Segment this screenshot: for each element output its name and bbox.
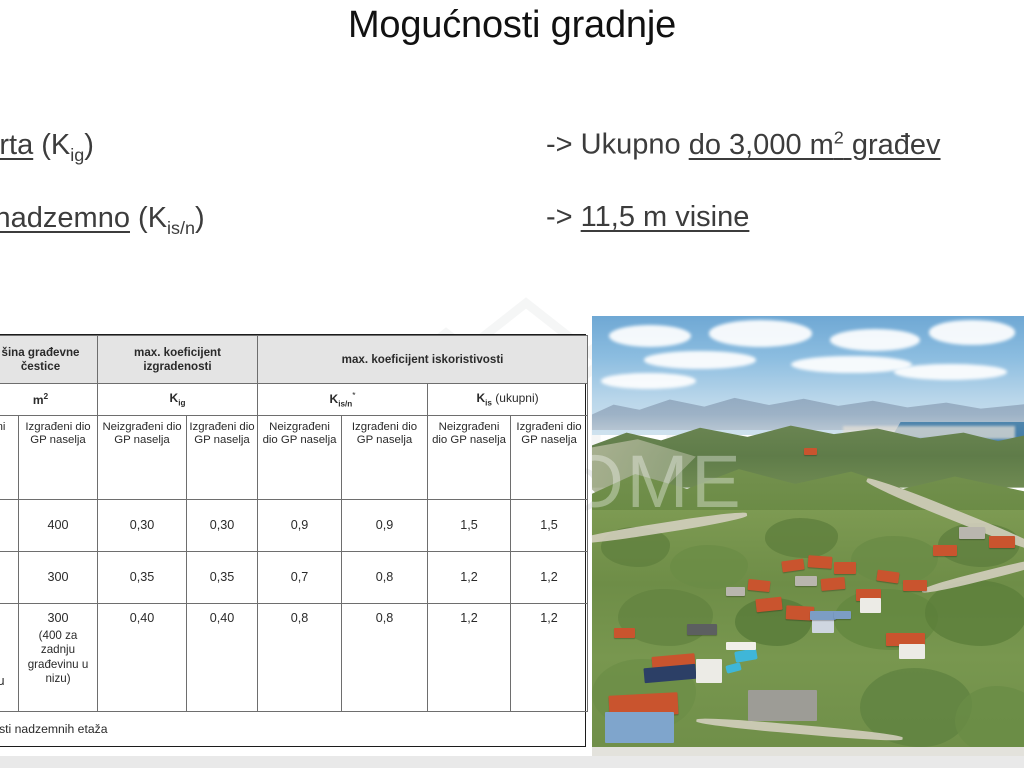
bullet-right-1-underlined: do 3,000 m2 građev (689, 129, 941, 161)
group-header-kig: max. koeficijent izgradenosti (98, 336, 258, 384)
house-roof (747, 579, 770, 592)
table-group-header-row: šina građevne čestice max. koeficijent i… (0, 336, 588, 384)
row1-col4: 0,7 (258, 552, 342, 604)
row0-col2: 0,30 (98, 500, 187, 552)
row0-col6: 1,5 (428, 500, 511, 552)
subheader-3: Izgrađeni dio GP naselja (187, 416, 258, 500)
subheader-6: Neizgrađeni dio GP naselja (428, 416, 511, 500)
cloud-icon (601, 373, 696, 388)
row1-col5: 0,8 (342, 552, 428, 604)
row0-col5: 0,9 (342, 500, 428, 552)
row0-col7: 1,5 (511, 500, 588, 552)
house-roof (804, 448, 817, 455)
subheader-5: Izgrađeni dio GP naselja (342, 416, 428, 500)
row1-col3: 0,35 (187, 552, 258, 604)
cloud-icon (644, 351, 756, 369)
table-row: 400 0,30 0,30 0,9 0,9 1,5 1,5 (0, 500, 588, 552)
row1-col2: 0,35 (98, 552, 187, 604)
bullet-left-2: 00 m2 nadzemno (Kis/n) (0, 201, 432, 236)
villa-wall (696, 659, 722, 683)
cloud-icon (609, 325, 691, 347)
house-roof (933, 545, 957, 556)
row1-col6: 1,2 (428, 552, 511, 604)
blue-villa-wall (605, 712, 674, 743)
row0-col4: 0,9 (258, 500, 342, 552)
right-bullet-group: -> Ukupno do 3,000 m2 građev -> 11,5 m v… (546, 128, 1024, 275)
bullet-left-2-underlined: 00 m2 nadzemno (0, 202, 130, 234)
house-roof (687, 624, 717, 635)
table-subheader-row: ni Izgrađeni dio GP naselja Neizgrađeni … (0, 416, 588, 500)
table-row: u 300 (400 za zadnju građevinu u nizu) 0… (0, 604, 588, 712)
house-roof (959, 527, 985, 538)
symbol-kisn: Kis/n* (258, 384, 428, 416)
house-roof (810, 611, 836, 620)
tree-cluster (765, 518, 838, 558)
house-wall (812, 617, 834, 632)
row2-col7: 1,2 (511, 604, 588, 712)
symbol-m2: m2 (0, 384, 98, 416)
row0-col0 (0, 500, 19, 552)
subheader-2: Neizgrađeni dio GP naselja (98, 416, 187, 500)
subheader-4: Neizgrađeni dio GP naselja (258, 416, 342, 500)
house-roof (989, 536, 1015, 548)
house-roof (614, 628, 636, 638)
symbol-kis-total: Kis (ukupni) (428, 384, 588, 416)
house-wall (899, 644, 925, 659)
house-wall (860, 598, 882, 614)
row1-col0 (0, 552, 19, 604)
house-roof (726, 587, 745, 597)
cloud-icon (709, 320, 813, 346)
tree-cluster (670, 545, 748, 589)
row2-col1-value: 300 (48, 611, 69, 625)
slide-canvas: Mogućnosti gradnje EUROHOME NEKRETNINE m… (0, 0, 1024, 768)
left-bullet-group: m2 tlocrta (Kig) 00 m2 nadzemno (Kis/n) (0, 128, 432, 275)
bullet-left-2-symbol: (Kis/n) (138, 202, 205, 234)
row2-col1: 300 (400 za zadnju građevinu u nizu) (19, 604, 98, 712)
row2-col3: 0,40 (187, 604, 258, 712)
subheader-1: Izgrađeni dio GP naselja (19, 416, 98, 500)
bullet-left-1-symbol: (Kig) (41, 129, 94, 161)
house-roof (903, 580, 927, 591)
house-roof (820, 577, 845, 591)
table-symbol-row: m2 Kig Kis/n* Kis (ukupni) (0, 384, 588, 416)
terrace (726, 642, 756, 651)
house-roof (808, 555, 833, 569)
bullet-right-1: -> Ukupno do 3,000 m2 građev (546, 128, 1024, 160)
table-footnote: ivosti nadzemnih etaža (0, 712, 588, 746)
group-header-kis: max. koeficijent iskoristivosti (258, 336, 588, 384)
table-footnote-row: ivosti nadzemnih etaža (0, 712, 588, 746)
page-title: Mogućnosti gradnje (0, 4, 1024, 47)
row2-col4: 0,8 (258, 604, 342, 712)
bullet-right-1-lead: Ukupno (581, 129, 681, 161)
subheader-0: ni (0, 416, 19, 500)
bullet-right-2: -> 11,5 m visine (546, 203, 1024, 232)
group-header-parcel-size: šina građevne čestice (0, 336, 98, 384)
row2-col0: u (0, 604, 19, 712)
house-roof (756, 596, 783, 612)
symbol-kig: Kig (98, 384, 258, 416)
row1-col1: 300 (19, 552, 98, 604)
bullet-right-1-arrow: -> (546, 129, 573, 161)
house-roof (834, 611, 851, 619)
row2-col5: 0,8 (342, 604, 428, 712)
row2-col2: 0,40 (98, 604, 187, 712)
row0-col1: 400 (19, 500, 98, 552)
photo-bottom-edge (592, 747, 1024, 756)
flat-roof-building (748, 690, 817, 721)
row2-col1-note: (400 za zadnju građevinu u nizu) (21, 629, 95, 687)
cloud-icon (894, 364, 1006, 379)
cloud-icon (929, 320, 1015, 344)
slide-bottom-band (0, 756, 1024, 768)
house-roof (834, 562, 856, 573)
row0-col3: 0,30 (187, 500, 258, 552)
bullet-left-1: m2 tlocrta (Kig) (0, 128, 432, 163)
aerial-coastal-village-photo: OME (592, 316, 1024, 756)
bullet-right-2-underlined: 11,5 m visine (581, 201, 750, 233)
table-row: 300 0,35 0,35 0,7 0,8 1,2 1,2 (0, 552, 588, 604)
subheader-7: Izgrađeni dio GP naselja (511, 416, 588, 500)
house-roof (795, 576, 817, 587)
bullet-right-2-arrow: -> (546, 201, 573, 233)
building-parameters-table: šina građevne čestice max. koeficijent i… (0, 334, 586, 747)
row1-col7: 1,2 (511, 552, 588, 604)
bullet-left-1-underlined: m2 tlocrta (0, 129, 33, 161)
row2-col6: 1,2 (428, 604, 511, 712)
